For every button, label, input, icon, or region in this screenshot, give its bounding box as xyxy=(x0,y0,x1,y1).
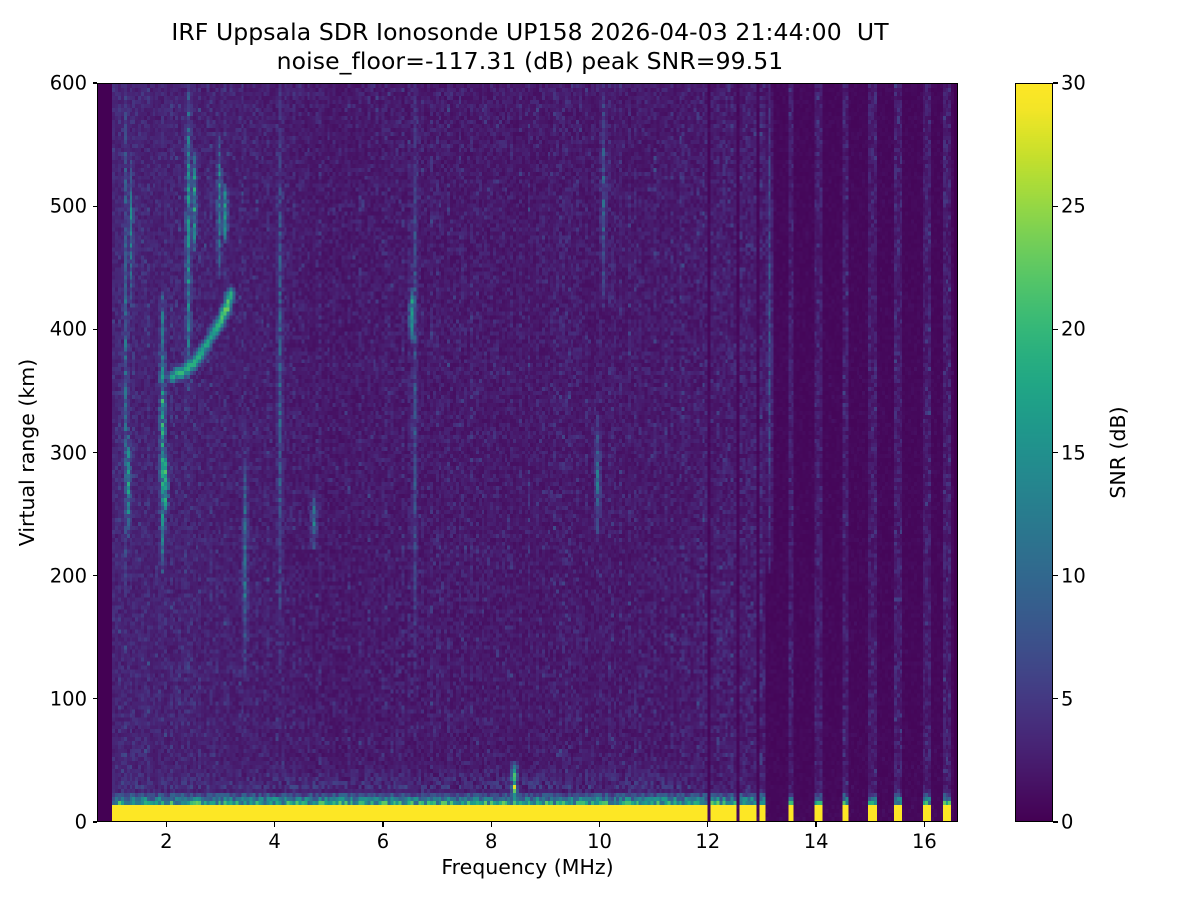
x-tick-label: 8 xyxy=(485,830,497,853)
colorbar-tick-label: 20 xyxy=(1061,318,1086,341)
y-tick-mark xyxy=(93,329,98,330)
y-tick-label: 300 xyxy=(1,441,87,464)
ionogram-axes[interactable] xyxy=(97,83,958,822)
x-tick-label: 6 xyxy=(377,830,389,853)
colorbar-tick-label: 10 xyxy=(1061,564,1086,587)
x-tick-mark xyxy=(599,822,600,827)
x-tick-mark xyxy=(274,822,275,827)
x-tick-mark xyxy=(707,822,708,827)
colorbar-container[interactable]: 051015202530 xyxy=(1015,83,1053,822)
colorbar-tick-label: 0 xyxy=(1061,811,1073,834)
x-tick-label: 16 xyxy=(912,830,937,853)
x-tick-mark xyxy=(815,822,816,827)
x-tick-label: 10 xyxy=(587,830,612,853)
y-tick-label: 100 xyxy=(1,687,87,710)
y-tick-label: 500 xyxy=(1,195,87,218)
colorbar-tick-mark xyxy=(1053,329,1058,330)
ionogram-heatmap[interactable] xyxy=(98,84,957,821)
x-tick-mark xyxy=(166,822,167,827)
colorbar-tick-mark xyxy=(1053,82,1058,83)
colorbar-tick-label: 30 xyxy=(1061,72,1086,95)
y-tick-label: 400 xyxy=(1,318,87,341)
colorbar-tick-mark xyxy=(1053,698,1058,699)
y-tick-mark xyxy=(93,452,98,453)
x-tick-label: 12 xyxy=(695,830,720,853)
y-tick-mark xyxy=(93,206,98,207)
colorbar-tick-label: 15 xyxy=(1061,441,1086,464)
x-tick-mark xyxy=(382,822,383,827)
x-tick-label: 4 xyxy=(268,830,280,853)
colorbar-tick-label: 5 xyxy=(1061,687,1073,710)
y-tick-mark xyxy=(93,698,98,699)
ionogram-figure: IRF Uppsala SDR Ionosonde UP158 2026-04-… xyxy=(0,0,1200,900)
y-tick-label: 200 xyxy=(1,564,87,587)
x-tick-mark xyxy=(491,822,492,827)
x-tick-label: 14 xyxy=(804,830,829,853)
colorbar-gradient[interactable] xyxy=(1015,83,1053,822)
colorbar-tick-mark xyxy=(1053,575,1058,576)
y-tick-mark xyxy=(93,821,98,822)
colorbar-tick-label: 25 xyxy=(1061,195,1086,218)
colorbar-tick-mark xyxy=(1053,206,1058,207)
title-line-2: noise_floor=-117.31 (dB) peak SNR=99.51 xyxy=(0,47,1060,76)
x-axis-label: Frequency (MHz) xyxy=(97,855,958,879)
colorbar-tick-mark xyxy=(1053,452,1058,453)
title-line-1: IRF Uppsala SDR Ionosonde UP158 2026-04-… xyxy=(0,18,1060,47)
y-tick-mark xyxy=(93,575,98,576)
colorbar-tick-mark xyxy=(1053,821,1058,822)
y-tick-mark xyxy=(93,82,98,83)
x-tick-mark xyxy=(924,822,925,827)
colorbar-label: SNR (dB) xyxy=(1105,83,1131,822)
figure-title: IRF Uppsala SDR Ionosonde UP158 2026-04-… xyxy=(0,18,1060,75)
y-tick-label: 0 xyxy=(1,811,87,834)
x-tick-label: 2 xyxy=(160,830,172,853)
y-tick-label: 600 xyxy=(1,72,87,95)
